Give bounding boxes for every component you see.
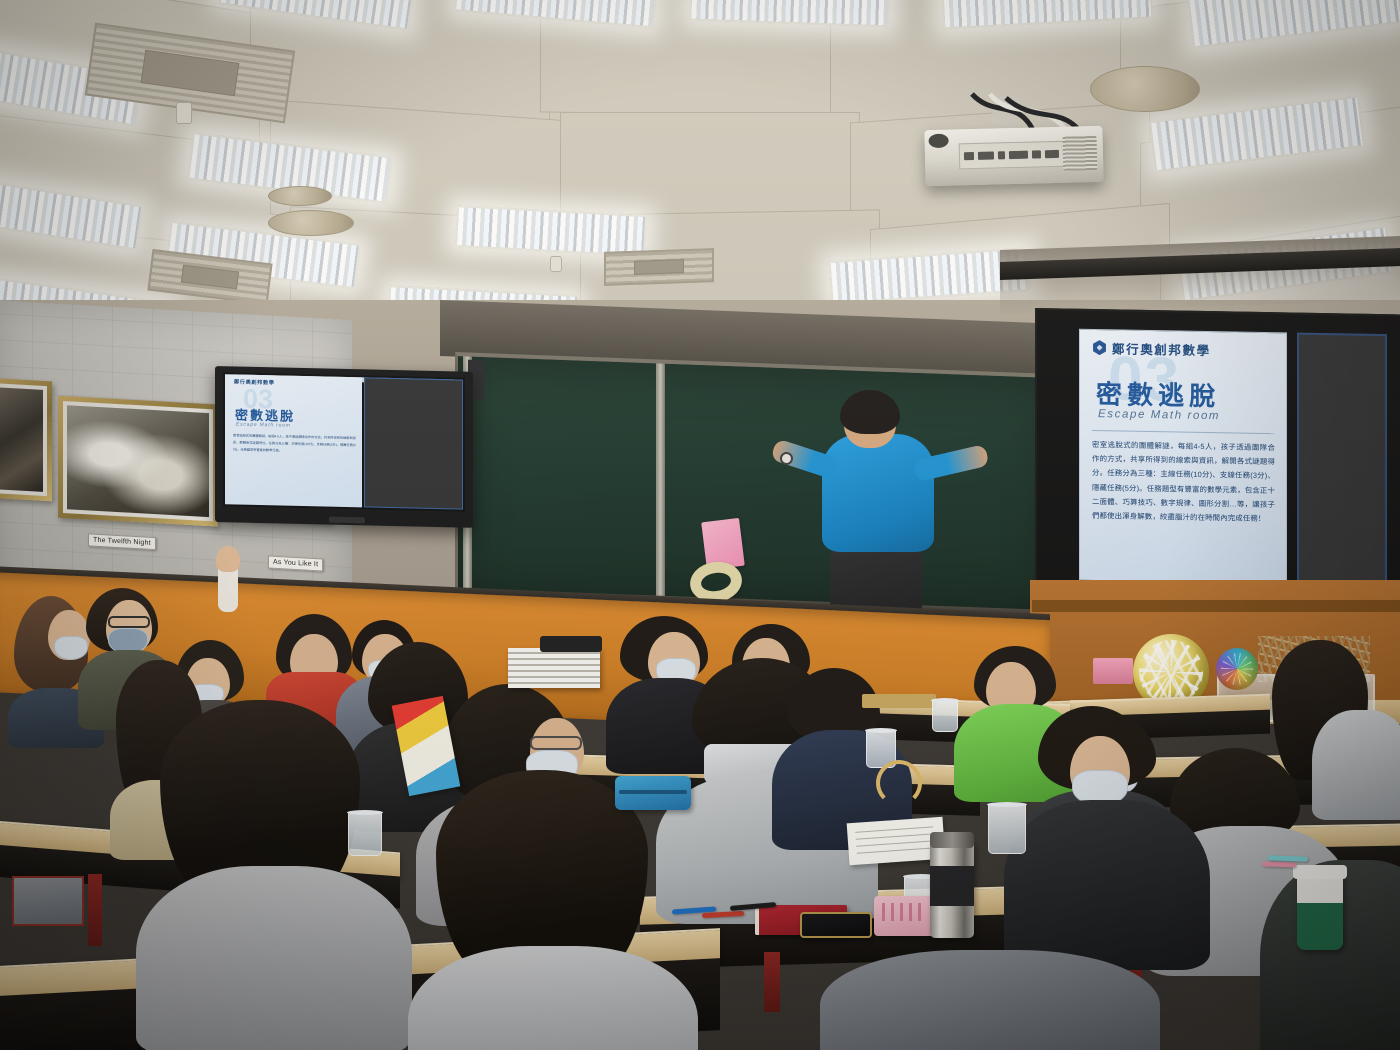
plastic-cup	[932, 700, 958, 732]
student-foreground-large	[820, 950, 1140, 1050]
projector-port-panel	[959, 140, 1080, 169]
stacked-books	[862, 694, 936, 708]
rainbow-puzzle-ball	[1216, 648, 1258, 690]
student-torso	[820, 950, 1160, 1050]
slide-brand-text: 鄭行奧創邦數學	[1112, 338, 1211, 359]
tv-slide-dark-panel	[364, 377, 463, 509]
tv-slide-left: 03 鄭行奧創邦數學 密數逃脫 Escape Math room 密室逃脫式的團…	[225, 374, 362, 507]
wall-trim	[1032, 600, 1400, 612]
framed-print	[0, 378, 52, 502]
slide-dark-panel	[1297, 333, 1387, 587]
slide-brand-row: 鄭行奧創邦數學	[1092, 338, 1211, 359]
plastic-cup	[348, 812, 382, 856]
blue-pencil-case	[615, 776, 691, 810]
tv-brand-text: 鄭行奧創邦數學	[234, 378, 275, 386]
light-grey-top	[408, 946, 698, 1050]
black-smartphone	[800, 912, 872, 938]
student-foreground-large	[150, 700, 400, 1040]
slide-body-text: 密室逃脫式的團體解謎，每組4-5人，孩子透過團隊合作的方式，共享所得到的線索與資…	[1092, 438, 1275, 527]
smoke-detector	[550, 256, 562, 272]
pink-pencil-pouch	[874, 896, 936, 936]
dark-jacket	[1004, 800, 1210, 970]
paper-booklet-stack	[508, 648, 600, 688]
projection-screen: 03 鄭行奧創邦數學 密數逃脫 Escape Math room 密室逃脫式的團…	[1035, 308, 1400, 604]
slide-content: 03 鄭行奧創邦數學 密數逃脫 Escape Math room 密室逃脫式的團…	[1079, 329, 1287, 585]
print-label-as-you-like-it: As You Like It	[268, 555, 323, 571]
paper-bag-handle	[876, 760, 922, 806]
slide-subtitle: Escape Math room	[1098, 408, 1220, 422]
eyeglasses	[530, 736, 582, 750]
teacher-polo-shirt	[822, 434, 934, 552]
ceiling-speaker	[268, 186, 332, 206]
classroom-photo-scene: The Twelfth Night As You Like It A Midsu…	[0, 0, 1400, 1050]
stainless-thermos-mug	[930, 840, 974, 938]
ceiling-tile	[560, 112, 860, 222]
desk-leg	[764, 952, 780, 1012]
hexagon-logo-icon	[1092, 340, 1107, 355]
pink-storage-box	[1093, 658, 1133, 684]
ac-vent	[604, 248, 714, 286]
projector-lens-icon	[928, 134, 948, 148]
framed-print	[58, 396, 218, 527]
ceiling-projector	[924, 126, 1103, 186]
desk-storage-tray	[12, 876, 84, 926]
student-raising-hand	[200, 560, 254, 650]
slide-divider	[1092, 430, 1274, 434]
slide-title: 密數逃脫	[1096, 374, 1220, 413]
teacher-hair	[840, 390, 900, 434]
ceiling-speaker	[268, 210, 354, 236]
green-coffee-cup	[1297, 872, 1343, 950]
eyeglasses	[108, 616, 150, 628]
plastic-cup	[988, 804, 1026, 854]
wall-mounted-tv: 03 鄭行奧創邦數學 密數逃脫 Escape Math room 密室逃脫式的團…	[215, 366, 473, 528]
tv-subtitle: Escape Math room	[236, 421, 291, 428]
projector-vent	[1063, 136, 1098, 171]
tv-stand	[329, 517, 365, 524]
face-mask	[54, 636, 88, 660]
black-case	[540, 636, 602, 652]
raised-hand	[216, 546, 240, 572]
student-foreground-large	[418, 770, 688, 1050]
desk-leg	[88, 874, 102, 946]
smoke-detector	[176, 102, 192, 124]
print-label-twelfth-night: The Twelfth Night	[88, 533, 156, 550]
student	[1020, 712, 1190, 962]
tv-body-text: 密室逃脫式的團體解謎，每組4-5人，孩子透過團隊合作的方式，共享所得到的線索與資…	[233, 432, 356, 456]
grey-hoodie	[136, 866, 412, 1050]
